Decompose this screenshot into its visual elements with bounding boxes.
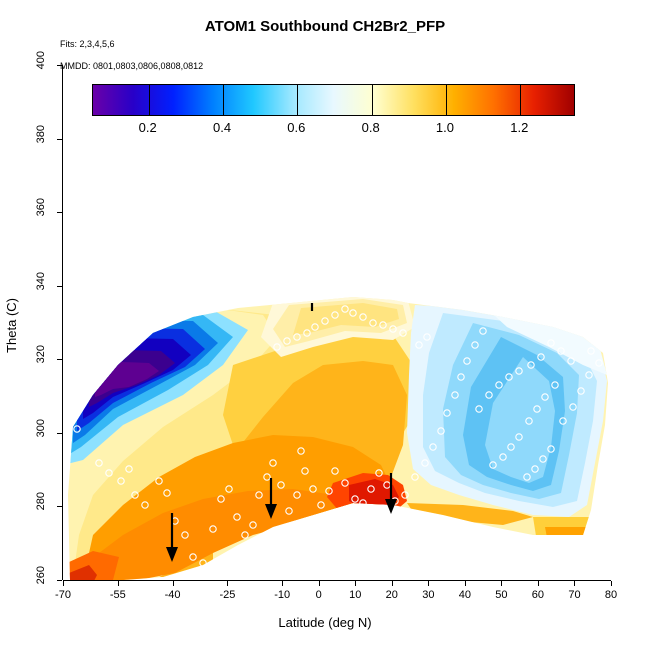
y-tick-label: 340 [35, 272, 47, 290]
x-axis-line [63, 580, 611, 581]
y-tick [57, 359, 62, 360]
x-tick [538, 581, 539, 586]
y-tick-label: 300 [35, 419, 47, 437]
y-tick [57, 212, 62, 213]
chart-root: ATOM1 Southbound CH2Br2_PFP Fits: 2,3,4,… [0, 0, 650, 650]
x-axis-label: Latitude (deg N) [0, 615, 650, 630]
x-tick [465, 581, 466, 586]
y-tick-label: 380 [35, 125, 47, 143]
x-tick-label: 30 [422, 589, 434, 601]
colorbar-tick-label: 0.8 [362, 120, 380, 135]
y-tick [57, 65, 62, 66]
colorbar-tick-label: 0.2 [139, 120, 157, 135]
y-tick-label: 360 [35, 198, 47, 216]
x-tick-label: 80 [605, 589, 617, 601]
x-tick [428, 581, 429, 586]
colorbar-divider [520, 85, 521, 115]
field-pixels [63, 285, 611, 580]
x-tick-label: 20 [386, 589, 398, 601]
y-tick-label: 280 [35, 492, 47, 510]
x-tick-label: 60 [532, 589, 544, 601]
y-tick-label: 400 [35, 51, 47, 69]
x-tick [611, 581, 612, 586]
colorbar-tick-label: 1.2 [510, 120, 528, 135]
x-tick-label: -70 [55, 589, 71, 601]
x-tick-label: 40 [459, 589, 471, 601]
y-axis-label-text: Theta (C) [4, 298, 19, 353]
y-tick-label: 320 [35, 345, 47, 363]
x-tick-label: 50 [495, 589, 507, 601]
colorbar-divider [372, 85, 373, 115]
page-title: ATOM1 Southbound CH2Br2_PFP [0, 18, 650, 35]
x-tick-label: 0 [316, 589, 322, 601]
colorbar-tick-label: 0.6 [287, 120, 305, 135]
x-tick [227, 581, 228, 586]
fits-annotation: Fits: 2,3,4,5,6 [60, 39, 115, 49]
x-tick [319, 581, 320, 586]
y-tick-label: 260 [35, 566, 47, 584]
colorbar-divider [446, 85, 447, 115]
x-tick [501, 581, 502, 586]
y-tick [57, 433, 62, 434]
x-tick-label: 10 [349, 589, 361, 601]
colorbar-divider [223, 85, 224, 115]
colorbar-tick-label: 1.0 [436, 120, 454, 135]
x-tick [173, 581, 174, 586]
x-tick-label: -40 [165, 589, 181, 601]
x-tick [118, 581, 119, 586]
x-tick-label: -55 [110, 589, 126, 601]
x-tick [282, 581, 283, 586]
plot-area: -70-55-40-25-1001020304050607080 2602803… [63, 65, 611, 580]
y-axis-label: Theta (C) [2, 0, 20, 650]
heatmap-field [63, 65, 611, 580]
y-tick [57, 286, 62, 287]
y-tick [57, 139, 62, 140]
x-tick [355, 581, 356, 586]
y-axis-line [62, 65, 63, 580]
x-tick-label: -25 [219, 589, 235, 601]
colorbar-gradient [93, 85, 574, 115]
x-tick-label: -10 [274, 589, 290, 601]
colorbar [92, 84, 575, 116]
x-tick-label: 70 [568, 589, 580, 601]
x-tick [392, 581, 393, 586]
colorbar-divider [297, 85, 298, 115]
x-tick [574, 581, 575, 586]
y-tick [57, 580, 62, 581]
colorbar-divider [149, 85, 150, 115]
y-tick [57, 506, 62, 507]
colorbar-tick-label: 0.4 [213, 120, 231, 135]
x-tick [63, 581, 64, 586]
